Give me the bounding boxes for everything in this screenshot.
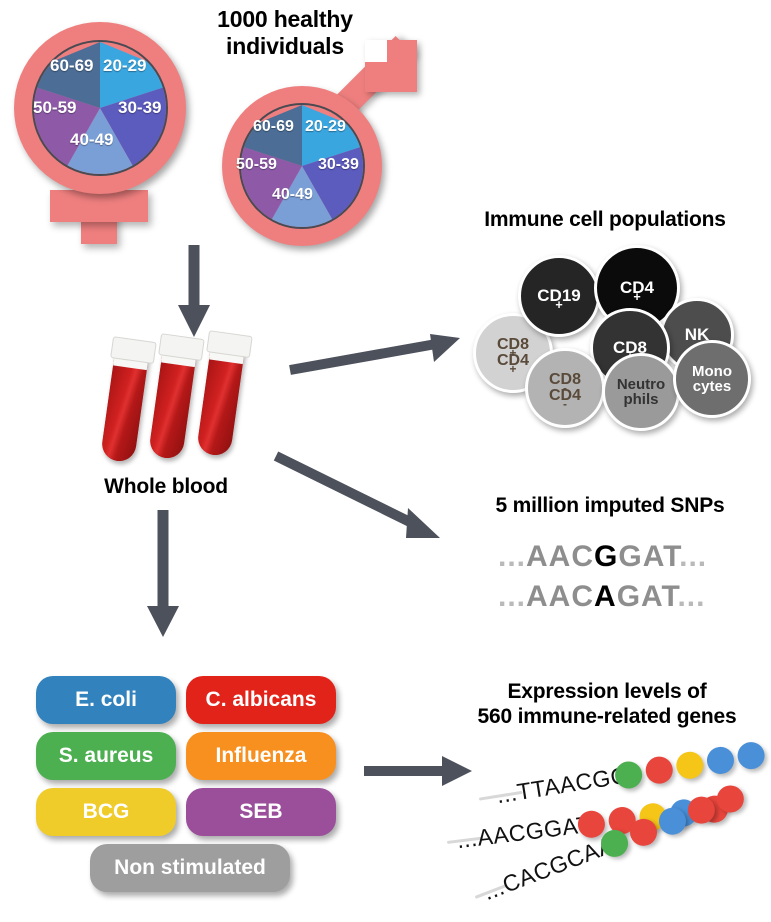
expression-heading: Expression levels of 560 immune-related … (448, 680, 766, 730)
bead-yellow (674, 750, 705, 781)
expression-heading-line1: Expression levels of (448, 680, 766, 705)
female-symbol: 20-29 30-39 40-49 50-59 60-69 (8, 16, 198, 246)
stimulus-non-stimulated[interactable]: Non stimulated (90, 844, 290, 892)
bead-blue (705, 745, 736, 776)
venus-crossbar (50, 190, 148, 222)
stimulus-influenza[interactable]: Influenza (186, 732, 336, 780)
immune-title: Immune cell populations (448, 208, 762, 233)
expression-heading-line2: 560 immune-related genes (448, 705, 766, 730)
cell-cd8neg-cd4neg: CD8- CD4- (525, 348, 605, 428)
pie-label-60-69: 60-69 (253, 118, 294, 136)
blood-tube-2 (148, 341, 198, 461)
pie-label-40-49: 40-49 (70, 130, 113, 150)
arrow-blood-to-immune (288, 330, 468, 380)
male-symbol: 20-29 30-39 40-49 50-59 60-69 (208, 38, 428, 248)
bead-red (684, 793, 719, 828)
whole-blood-label: Whole blood (66, 475, 266, 500)
cell-cd19pos: CD19+ (518, 255, 600, 337)
bead-blue (736, 740, 767, 771)
pie-label-20-29: 20-29 (305, 118, 346, 136)
pie-label-20-29: 20-29 (103, 56, 146, 76)
stimulus-c-albicans[interactable]: C. albicans (186, 676, 336, 724)
arrow-blood-to-snps (272, 450, 462, 550)
expression-strands: ...TTAACGG ...AACGGAT .. (455, 740, 771, 915)
blood-tube-1 (100, 344, 150, 464)
snps-title: 5 million imputed SNPs (460, 494, 760, 519)
bead-red (644, 755, 675, 786)
blood-tube-3 (196, 338, 246, 458)
snp-allele-row-2: ...AACAGAT... (498, 580, 705, 614)
pie-label-60-69: 60-69 (50, 56, 93, 76)
cell-neutrophils: Neutro phils (602, 353, 680, 431)
snp-allele-row-1: ...AACGGAT... (498, 540, 707, 574)
stimulus-e-coli[interactable]: E. coli (36, 676, 176, 724)
pie-label-50-59: 50-59 (236, 156, 277, 174)
stimulus-bcg[interactable]: BCG (36, 788, 176, 836)
mars-arrow-notch (365, 40, 387, 62)
gene-strand-1-sequence: ...TTAACGG (495, 762, 631, 810)
figure-canvas: 1000 healthy individuals 20-29 30-39 40-… (0, 0, 771, 922)
immune-cell-cluster: CD8+ CD4+ CD19+ CD4+ NK CD8+ CD8- CD4- (455, 240, 755, 420)
arrow-cohort-to-blood (170, 245, 220, 340)
whole-blood-tubes (112, 336, 282, 466)
stimulus-seb[interactable]: SEB (186, 788, 336, 836)
pie-label-30-39: 30-39 (318, 156, 359, 174)
pie-label-40-49: 40-49 (272, 186, 313, 204)
bead-blue (655, 804, 690, 839)
cell-monocytes: Mono cytes (673, 340, 751, 418)
bead-red (626, 815, 661, 850)
stimuli-panel: E. coli C. albicans S. aureus Influenza … (36, 676, 336, 896)
stimulus-s-aureus[interactable]: S. aureus (36, 732, 176, 780)
bead-red (713, 782, 748, 817)
pie-label-50-59: 50-59 (33, 98, 76, 118)
bead-green (613, 760, 644, 791)
pie-label-30-39: 30-39 (118, 98, 161, 118)
arrow-blood-to-stimuli (140, 510, 190, 640)
cohort-heading-line1: 1000 healthy (170, 6, 400, 33)
